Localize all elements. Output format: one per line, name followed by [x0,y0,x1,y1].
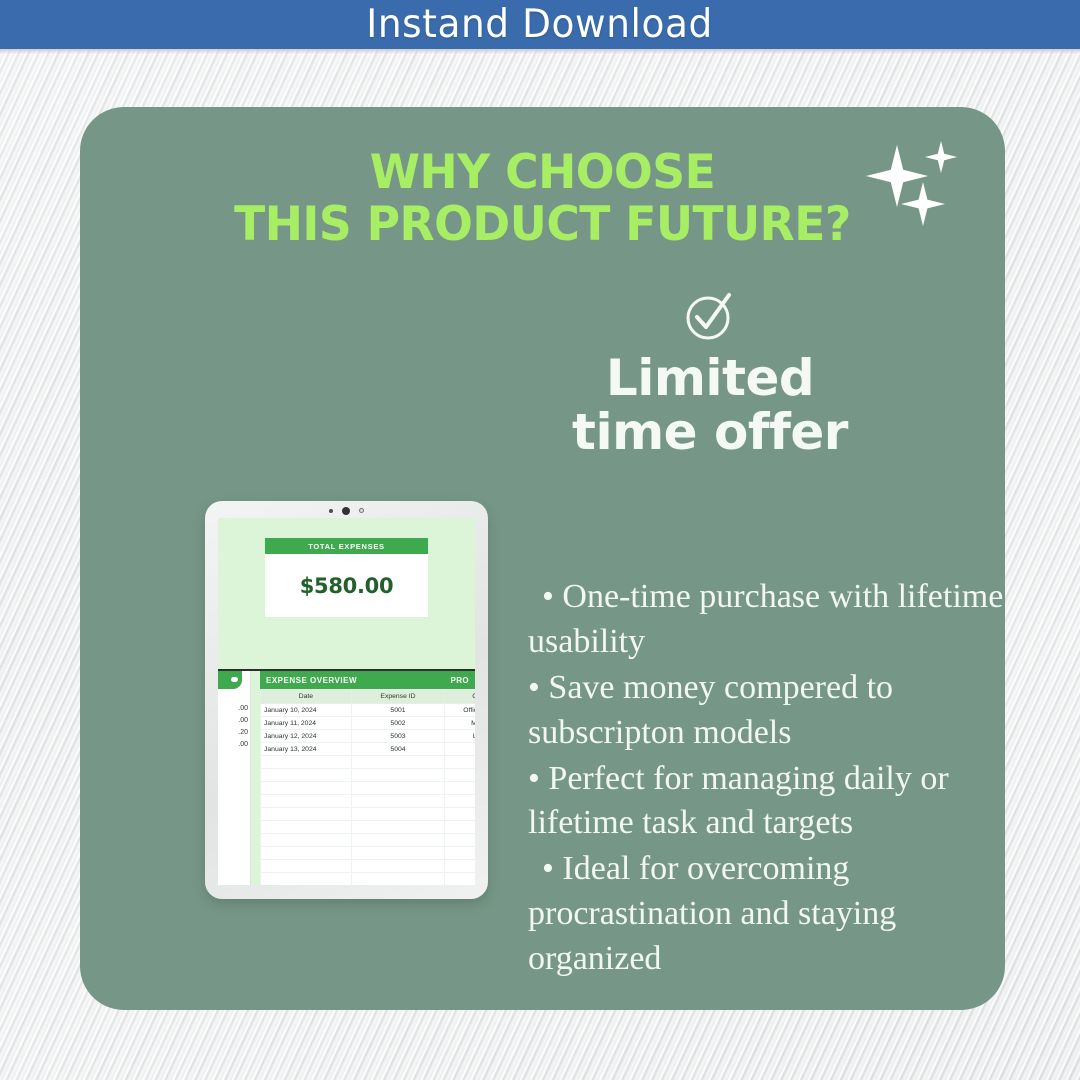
cell-empty[interactable] [261,873,352,886]
table-row-empty[interactable] [261,756,476,769]
table-row-empty[interactable] [261,808,476,821]
amount-cell: .00 [218,715,250,727]
column-header-category[interactable]: Category [445,690,475,704]
cell-category[interactable]: Marketing [445,717,475,730]
page-title: WHY CHOOSE THIS PRODUCT FUTURE? [94,147,991,251]
banner-title: Instand Download [367,2,714,47]
promo-graphic: Instand Download WHY CHOOSE THIS PRODUCT… [0,0,1080,1080]
offer-title-line1: Limited [606,349,814,407]
table-row-empty[interactable] [261,873,476,886]
table-row[interactable]: January 10, 20245001Office Supplies [261,704,476,717]
cell-empty[interactable] [261,834,352,847]
cell-empty[interactable] [351,834,444,847]
list-item: • Ideal for overcoming procrastination a… [528,847,1036,982]
cell-category[interactable]: Office Supplies [445,704,475,717]
cell-empty[interactable] [445,834,475,847]
tablet-mockup: TOTAL EXPENSES $580.00 .00 .00 .20 [205,501,488,899]
table-row-empty[interactable] [261,782,476,795]
banner-shadow [0,49,1080,54]
highlight-band [251,671,260,885]
tablet-screen: TOTAL EXPENSES $580.00 .00 .00 .20 [218,518,475,885]
total-expenses-body: $580.00 [265,554,428,617]
expense-overview-section: .00 .00 .20 .00 EXPENSE OVERVIEW PRO [218,671,475,885]
expense-table-wrapper: EXPENSE OVERVIEW PRO Date Expense ID [260,671,475,885]
cell-category[interactable]: Logistics [445,730,475,743]
cell-empty[interactable] [351,769,444,782]
cell-empty[interactable] [445,847,475,860]
expense-table-right-label: PRO [450,676,469,685]
dot-large-icon [342,507,350,515]
content-card: WHY CHOOSE THIS PRODUCT FUTURE? Limited … [80,107,1005,1010]
column-header-expense-id[interactable]: Expense ID [351,690,444,704]
page-title-line1: WHY CHOOSE [370,145,716,200]
cell-empty[interactable] [445,756,475,769]
row-number-column: .00 .00 .20 .00 [218,671,251,885]
tablet-camera-row [205,505,488,516]
expense-table: Date Expense ID Category January 10, 202… [260,689,475,885]
cell-empty[interactable] [445,821,475,834]
benefits-list: • One-time purchase with lifetime usabil… [528,575,1036,983]
table-row-empty[interactable] [261,834,476,847]
column-header-date[interactable]: Date [261,690,352,704]
cell-empty[interactable] [445,769,475,782]
cell-empty[interactable] [261,769,352,782]
table-body: January 10, 20245001Office SuppliesJanua… [261,704,476,886]
amount-cell: .00 [218,703,250,715]
check-circle-icon [683,289,737,343]
total-expenses-card: TOTAL EXPENSES $580.00 [265,538,428,617]
expense-table-title-bar: EXPENSE OVERVIEW PRO [260,671,475,689]
cell-empty[interactable] [351,873,444,886]
list-item: • Save money compered to subscripton mod… [528,666,1036,756]
table-header-row: Date Expense ID Category [261,690,476,704]
cell-date[interactable]: January 11, 2024 [261,717,352,730]
cell-expense-id[interactable]: 5002 [351,717,444,730]
cell-empty[interactable] [261,795,352,808]
table-row-empty[interactable] [261,795,476,808]
cell-date[interactable]: January 12, 2024 [261,730,352,743]
dot-small-icon [329,509,333,513]
dot-ring-icon [359,508,364,513]
cell-empty[interactable] [261,860,352,873]
cell-empty[interactable] [261,821,352,834]
cell-empty[interactable] [445,873,475,886]
total-expenses-value: $580.00 [300,574,394,598]
offer-block: Limited time offer [450,289,970,459]
cell-empty[interactable] [445,782,475,795]
cell-empty[interactable] [445,795,475,808]
cell-empty[interactable] [261,847,352,860]
left-column-header [218,689,250,703]
amount-cell: .00 [218,739,250,751]
table-row-empty[interactable] [261,769,476,782]
cell-date[interactable]: January 13, 2024 [261,743,352,756]
table-row[interactable]: January 11, 20245002Marketing [261,717,476,730]
cell-empty[interactable] [445,808,475,821]
cell-empty[interactable] [445,860,475,873]
sparkle-large-icon [866,145,928,207]
cell-empty[interactable] [261,808,352,821]
list-item: • Perfect for managing daily or lifetime… [528,757,1036,847]
cell-empty[interactable] [351,847,444,860]
cell-expense-id[interactable]: 5003 [351,730,444,743]
cell-expense-id[interactable]: 5001 [351,704,444,717]
page-title-line2: THIS PRODUCT FUTURE? [94,199,991,251]
sparkle-small-icon [925,141,957,173]
cell-empty[interactable] [351,808,444,821]
table-row-empty[interactable] [261,860,476,873]
table-row[interactable]: January 13, 20245004Utilities [261,743,476,756]
cell-empty[interactable] [261,756,352,769]
offer-title: Limited time offer [450,351,970,459]
cell-date[interactable]: January 10, 2024 [261,704,352,717]
total-expenses-section: TOTAL EXPENSES $580.00 [218,518,475,671]
list-item: • One-time purchase with lifetime usabil… [528,575,1036,665]
cell-empty[interactable] [351,795,444,808]
table-row[interactable]: January 12, 20245003Logistics [261,730,476,743]
select-all-corner[interactable] [218,671,242,689]
amount-cell: .20 [218,727,250,739]
table-row-empty[interactable] [261,847,476,860]
cell-category[interactable]: Utilities [445,743,475,756]
cell-empty[interactable] [351,821,444,834]
offer-title-line2: time offer [450,405,970,459]
cell-empty[interactable] [351,860,444,873]
table-row-empty[interactable] [261,821,476,834]
cell-expense-id[interactable]: 5004 [351,743,444,756]
sparkle-medium-icon [901,182,945,226]
top-banner: Instand Download [0,0,1080,49]
cell-empty[interactable] [351,782,444,795]
expense-table-title: EXPENSE OVERVIEW [266,676,357,685]
sparkles-icon [863,133,968,228]
cell-empty[interactable] [351,756,444,769]
total-expenses-header: TOTAL EXPENSES [265,538,428,554]
cell-empty[interactable] [261,782,352,795]
